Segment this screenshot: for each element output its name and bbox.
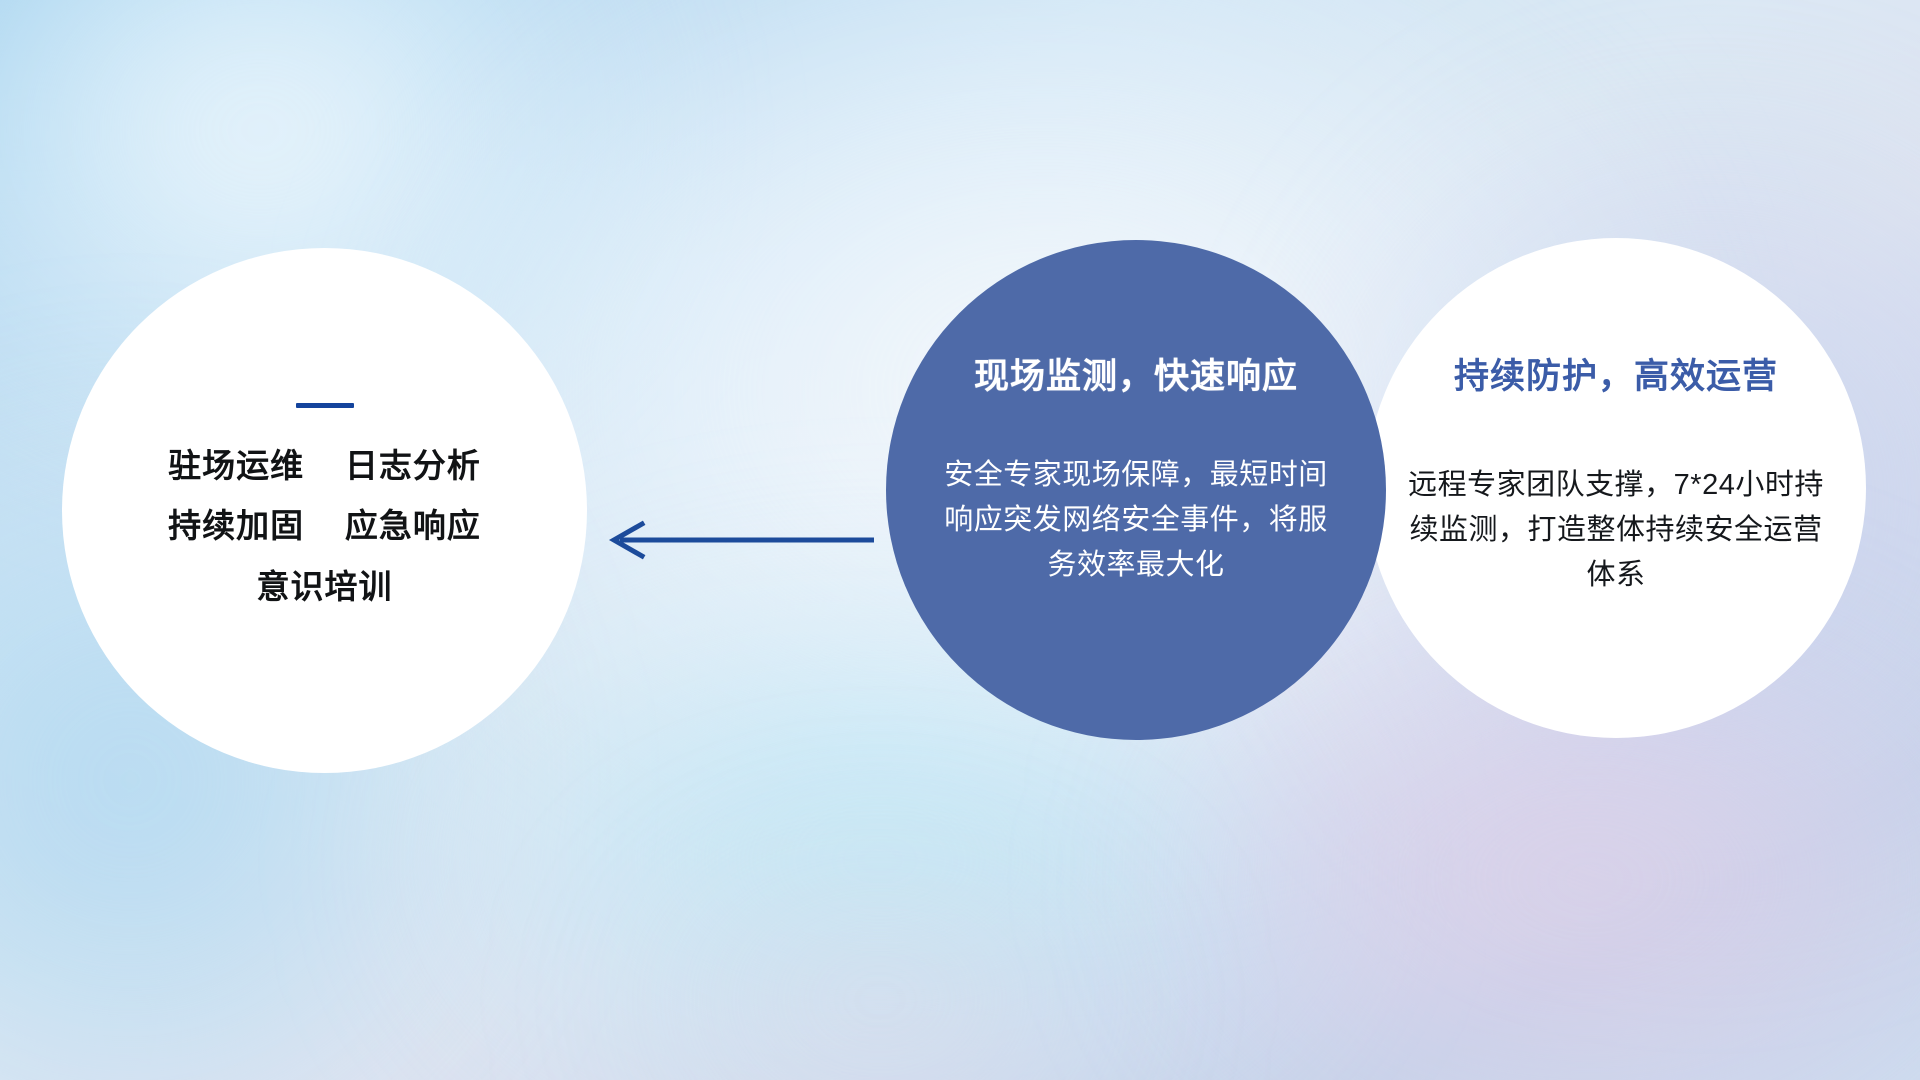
right-circle-title: 持续防护，高效运营 <box>1454 348 1778 399</box>
slide-canvas: 驻场运维 日志分析 持续加固 应急响应 意识培训 现场监测，快速响应 安全专家现… <box>0 0 1920 1080</box>
middle-circle-title: 现场监测，快速响应 <box>974 348 1298 399</box>
middle-circle-body: 安全专家现场保障，最短时间响应突发网络安全事件，将服务效率最大化 <box>936 453 1336 588</box>
left-circle-capability-list: 驻场运维 日志分析 持续加固 应急响应 意识培训 <box>168 448 481 605</box>
right-circle-content: 持续防护，高效运营 远程专家团队支撑，7*24小时持续监测，打造整体持续安全运营… <box>1366 238 1866 738</box>
middle-circle-content: 现场监测，快速响应 安全专家现场保障，最短时间响应突发网络安全事件，将服务效率最… <box>886 240 1386 740</box>
right-circle-body: 远程专家团队支撑，7*24小时持续监测，打造整体持续安全运营体系 <box>1406 463 1826 598</box>
list-item: 持续加固 应急响应 <box>168 508 481 544</box>
list-item: 驻场运维 日志分析 <box>168 448 481 484</box>
list-item: 意识培训 <box>257 569 393 605</box>
flow-arrow-icon <box>598 512 874 568</box>
